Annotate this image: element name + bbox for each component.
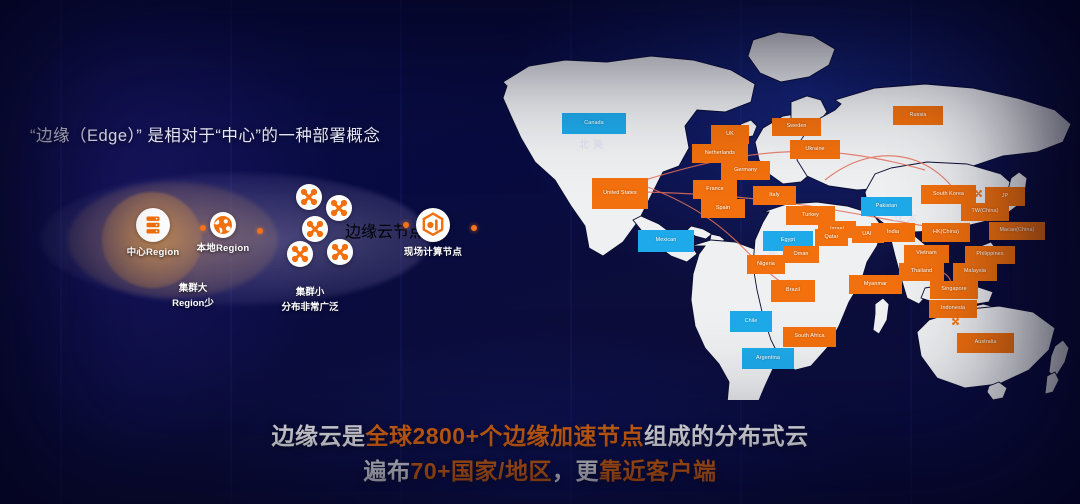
country-tag-russia[interactable]: Russia bbox=[893, 106, 943, 125]
country-tag-myanmar[interactable]: Myanmar bbox=[849, 275, 902, 294]
summary-line-2-part-c: ，更 bbox=[552, 458, 599, 484]
country-tag-philippines[interactable]: Philippines bbox=[965, 246, 1015, 264]
country-tag-mexico[interactable]: Mexican bbox=[638, 230, 694, 252]
concept-node-label: 现场计算节点 bbox=[396, 244, 470, 258]
country-tag-vietnam[interactable]: Vietnam bbox=[904, 245, 949, 263]
annotation-line-2: Region少 bbox=[172, 298, 214, 309]
summary-line-1: 边缘云是全球2800+个边缘加速节点组成的分布式云 bbox=[0, 419, 1080, 455]
page-title: “边缘（Edge）” 是相对于“中心”的一种部署概念 bbox=[30, 122, 450, 146]
edge-x-node-icon bbox=[296, 184, 322, 210]
world-map: 北美 欧洲 非洲 亚太 澳新 CanadaUnited StatesMexica… bbox=[495, 20, 1080, 400]
country-tag-indonesia[interactable]: Indonesia bbox=[929, 300, 977, 318]
country-tag-brazil[interactable]: Brazil bbox=[771, 280, 815, 302]
connector-dot-2 bbox=[257, 228, 263, 234]
concept-node-label: 中心Region bbox=[116, 244, 190, 258]
edge-x-node-icon bbox=[327, 239, 353, 265]
annotation-line-1: 集群大 bbox=[179, 283, 208, 294]
country-tag-italy[interactable]: Italy bbox=[753, 186, 796, 205]
country-tag-france[interactable]: France bbox=[693, 180, 737, 199]
country-tag-spain[interactable]: Spain bbox=[701, 199, 745, 218]
annotation-cluster-large: 集群大 Region少 bbox=[148, 282, 238, 311]
concept-node-label: 本地Region bbox=[186, 240, 260, 254]
hexagon-chip-icon bbox=[416, 208, 450, 242]
country-tag-japan[interactable]: JP bbox=[985, 187, 1025, 206]
country-tag-hk-china[interactable]: HK(China) bbox=[922, 223, 970, 242]
summary-line-1-highlight: 全球2800+个边缘加速节点 bbox=[365, 423, 644, 449]
annotation-cluster-small: 集群小 分布非常广泛 bbox=[245, 286, 375, 315]
country-tag-argentina[interactable]: Argentina bbox=[742, 348, 794, 369]
server-stack-icon bbox=[136, 208, 170, 242]
concept-node-onsite-compute[interactable]: 现场计算节点 bbox=[396, 208, 470, 258]
summary-line-2-highlight-1: 70+国家/地区 bbox=[411, 458, 552, 484]
edge-x-node-icon bbox=[302, 216, 328, 242]
country-tag-malaysia[interactable]: Malaysia bbox=[953, 263, 997, 281]
country-tag-uk[interactable]: UK bbox=[711, 125, 749, 144]
country-tag-south-korea[interactable]: South Korea bbox=[921, 185, 976, 204]
annotation-line-1: 集群小 bbox=[296, 287, 325, 298]
annotation-line-2: 分布非常广泛 bbox=[281, 302, 338, 313]
country-tag-australia[interactable]: Australia bbox=[957, 333, 1014, 353]
country-tag-sweden[interactable]: Sweden bbox=[772, 118, 821, 136]
globe-sphere-icon bbox=[210, 212, 236, 238]
country-tag-pakistan[interactable]: Pakistan bbox=[861, 197, 912, 216]
slide-canvas: “边缘（Edge）” 是相对于“中心”的一种部署概念 中心Region bbox=[0, 0, 1080, 504]
summary-line-2-highlight-2: 靠近客户端 bbox=[599, 458, 717, 484]
country-tag-canada[interactable]: Canada bbox=[562, 113, 626, 134]
country-tag-south-africa[interactable]: South Africa bbox=[783, 327, 836, 347]
summary-line-2-part-a: 遍布 bbox=[364, 458, 411, 484]
country-tag-thailand[interactable]: Thailand bbox=[899, 263, 944, 281]
summary-line-1-part-a: 边缘云是 bbox=[271, 423, 365, 449]
connector-dot-4 bbox=[471, 225, 477, 231]
region-label-north-america: 北美 bbox=[579, 136, 607, 151]
concept-node-local-region[interactable]: 本地Region bbox=[186, 212, 260, 254]
country-tag-india[interactable]: India bbox=[871, 223, 915, 242]
concept-node-center-region[interactable]: 中心Region bbox=[116, 208, 190, 258]
country-tag-ukraine[interactable]: Ukraine bbox=[790, 140, 840, 159]
country-tag-oman[interactable]: Oman bbox=[783, 246, 819, 263]
country-tag-germany[interactable]: Germany bbox=[721, 161, 770, 180]
edge-x-node-icon bbox=[287, 241, 313, 267]
summary-line-2: 遍布70+国家/地区，更靠近客户端 bbox=[0, 454, 1080, 490]
country-tag-macao-china[interactable]: Macao(China) bbox=[989, 222, 1045, 240]
country-tag-chile[interactable]: Chile bbox=[730, 311, 772, 332]
country-tag-nigeria[interactable]: Nigeria bbox=[747, 255, 785, 274]
country-tag-united-states[interactable]: United States bbox=[592, 178, 648, 209]
summary-copy: 边缘云是全球2800+个边缘加速节点组成的分布式云 遍布70+国家/地区，更靠近… bbox=[0, 419, 1080, 490]
country-tag-singapore[interactable]: Singapore bbox=[930, 281, 978, 299]
summary-line-1-part-c: 组成的分布式云 bbox=[644, 423, 809, 449]
edge-concept-diagram: 中心Region 本地Region bbox=[40, 168, 430, 308]
country-tag-qatar[interactable]: Qatar bbox=[815, 229, 848, 246]
